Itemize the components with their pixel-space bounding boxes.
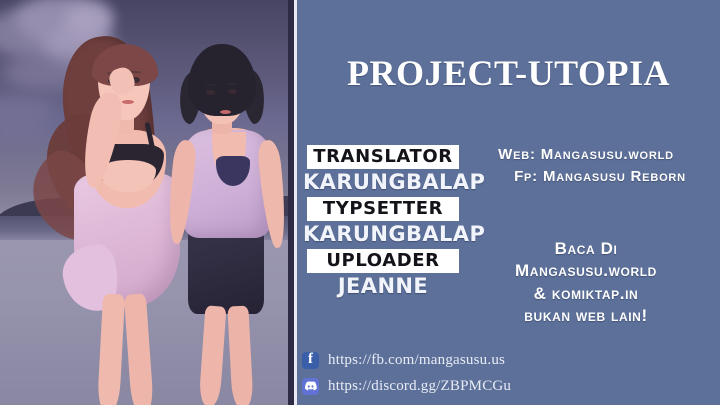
facebook-icon[interactable]: f [302, 352, 319, 369]
figure-woman-right [172, 44, 290, 405]
eye [206, 90, 215, 95]
web-info-block: Web: Mangasusu.world Fp: Mangasusu Rebor… [457, 144, 715, 188]
leg [227, 306, 253, 405]
staff-name-value: KARUNGBALAP [303, 170, 463, 195]
discord-link-row[interactable]: https://discord.gg/ZBPMCGu [302, 374, 702, 398]
discord-icon[interactable] [302, 378, 319, 395]
eyebrow [205, 84, 216, 86]
staff-role-label: TRANSLATOR [307, 145, 459, 169]
read-here-line-4: bukan web lain! [457, 305, 715, 327]
page-title: PROJECT-UTOPIA [297, 52, 720, 94]
hair-front [188, 44, 256, 116]
leg [199, 305, 227, 405]
credits-page: PROJECT-UTOPIA TRANSLATOR KARUNGBALAP TY… [0, 0, 720, 405]
lips [220, 110, 231, 114]
read-here-line-2: Mangasusu.world [457, 260, 715, 282]
facebook-url[interactable]: https://fb.com/mangasusu.us [328, 352, 505, 369]
discord-glyph [304, 381, 317, 391]
social-links-list: f https://fb.com/mangasusu.us https://di… [302, 348, 702, 400]
facebook-page-line: Fp: Mangasusu Reborn [457, 166, 715, 188]
staff-credits-list: TRANSLATOR KARUNGBALAP TYPSETTER KARUNGB… [303, 145, 463, 301]
read-here-line-3: & komiktap.in [457, 283, 715, 305]
leg [124, 293, 154, 405]
eye [228, 89, 237, 94]
discord-url[interactable]: https://discord.gg/ZBPMCGu [328, 378, 511, 395]
staff-role-label: TYPSETTER [307, 197, 459, 221]
facebook-glyph: f [308, 352, 313, 367]
staff-role-label: UPLOADER [307, 249, 459, 273]
staff-name-value: JEANNE [303, 274, 463, 299]
artwork-panel [0, 0, 290, 405]
lips [122, 100, 134, 104]
staff-name-value: KARUNGBALAP [303, 222, 463, 247]
read-here-line-1: Baca Di [457, 238, 715, 260]
facebook-link-row[interactable]: f https://fb.com/mangasusu.us [302, 348, 702, 372]
read-here-block: Baca Di Mangasusu.world & komiktap.in bu… [457, 238, 715, 328]
web-site-line: Web: Mangasusu.world [457, 144, 715, 166]
eyebrow [227, 83, 238, 85]
credits-panel: PROJECT-UTOPIA TRANSLATOR KARUNGBALAP TY… [297, 0, 720, 405]
